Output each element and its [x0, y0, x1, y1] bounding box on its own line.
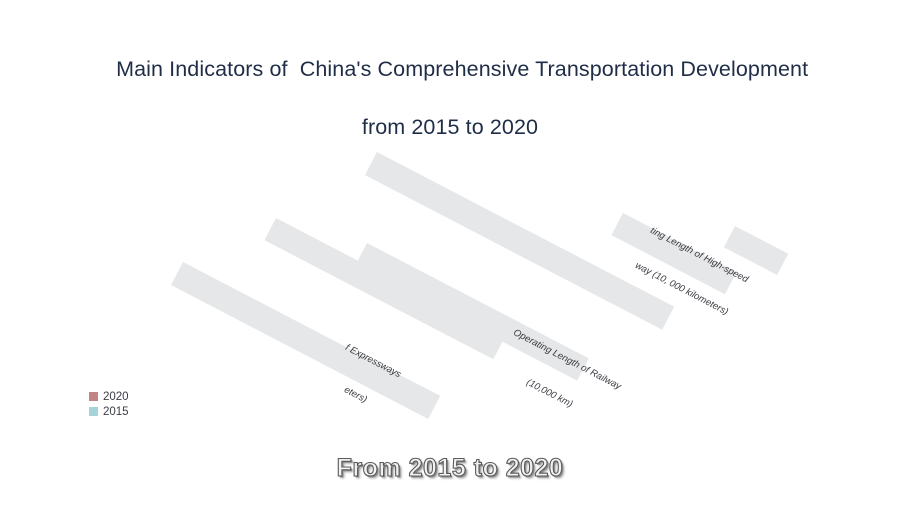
legend-item-2015[interactable]: 2015	[89, 405, 129, 418]
slide-canvas: Main Indicators of China's Comprehensive…	[0, 0, 900, 506]
legend-swatch-2020	[89, 392, 98, 401]
legend-swatch-2015	[89, 407, 98, 416]
slide-caption: From 2015 to 2020	[0, 452, 900, 484]
chart-title-line-1: Main Indicators of China's Comprehensive…	[116, 57, 808, 81]
chart-plot-area: f Expressways eters) Operating Length of…	[0, 90, 900, 420]
legend-item-2020[interactable]: 2020	[89, 390, 129, 403]
chart-legend: 2020 2015	[89, 390, 129, 418]
legend-label-2020: 2020	[103, 391, 129, 403]
legend-label-2015: 2015	[103, 406, 129, 418]
axis-label-expressways-line-1: f Expressways	[343, 342, 403, 381]
axis-label-expressways-line-2: eters)	[325, 375, 385, 414]
